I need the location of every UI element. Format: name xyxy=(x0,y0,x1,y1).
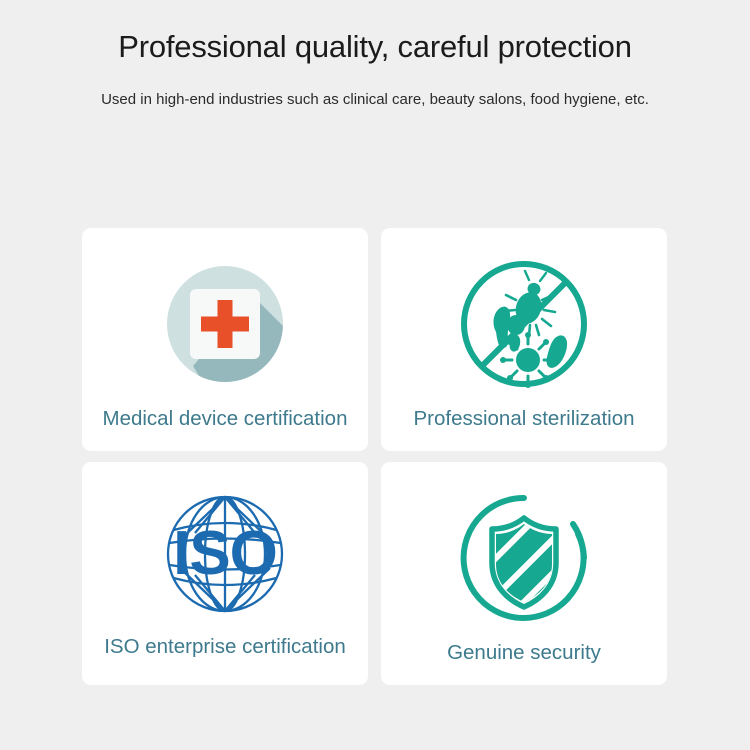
no-germs-icon xyxy=(450,250,598,398)
shield-ring-icon xyxy=(450,484,598,632)
feature-card-label: ISO enterprise certification xyxy=(104,634,346,660)
feature-card-iso[interactable]: ISO ISO enterprise certification xyxy=(82,462,368,685)
page-subtitle: Used in high-end industries such as clin… xyxy=(0,67,750,111)
iso-globe-icon: ISO xyxy=(151,480,299,628)
page-title: Professional quality, careful protection xyxy=(0,27,750,67)
feature-card-sterilization[interactable]: Professional sterilization xyxy=(381,228,667,451)
iso-wordmark: ISO xyxy=(173,519,277,588)
feature-card-label: Professional sterilization xyxy=(413,406,634,432)
feature-card-security[interactable]: Genuine security xyxy=(381,462,667,685)
medical-cross-icon xyxy=(151,250,299,398)
feature-card-grid: Medical device certification xyxy=(82,228,667,685)
feature-card-label: Medical device certification xyxy=(103,406,348,432)
page-header: Professional quality, careful protection… xyxy=(0,0,750,111)
promo-page: Professional quality, careful protection… xyxy=(0,0,750,750)
feature-card-medical-device[interactable]: Medical device certification xyxy=(82,228,368,451)
feature-card-label: Genuine security xyxy=(447,640,601,666)
